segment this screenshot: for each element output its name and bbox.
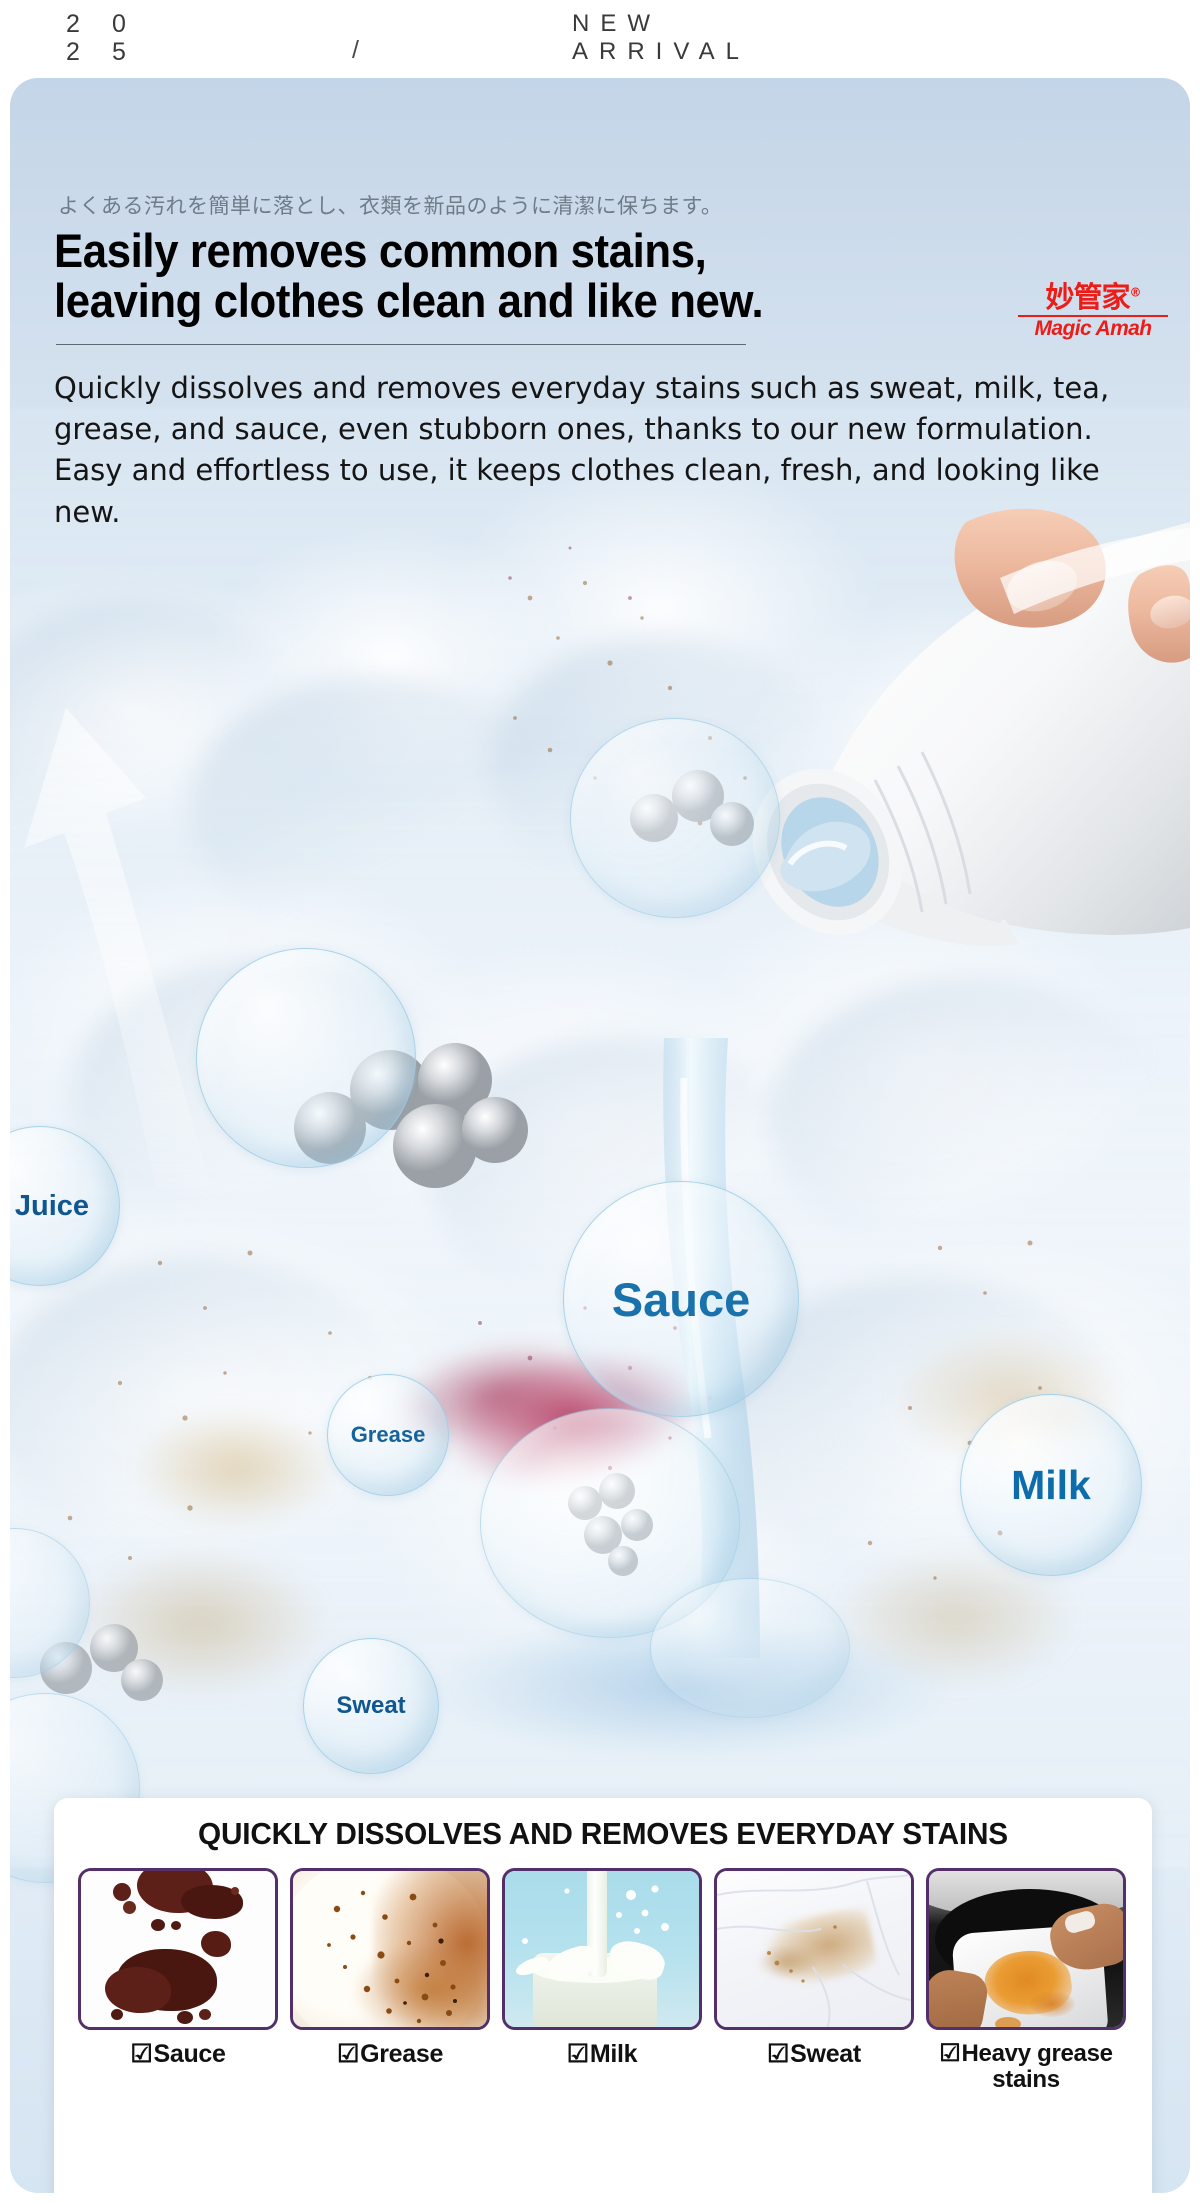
top-header: 2 0 2 5 / NEW ARRIVAL [0,0,1200,78]
header-rule [56,344,746,345]
heavy-grease-shirt-image [929,1871,1123,2027]
stain-item-sweat[interactable]: ☑Sweat [714,1868,914,2093]
body-copy: Quickly dissolves and removes everyday s… [54,368,1144,533]
bubble-decorative [650,1578,850,1718]
headline-line-1: Easily removes common stains, [54,226,947,276]
new-arrival-label: NEW ARRIVAL [572,10,750,66]
checkbox-icon: ☑ [130,2040,152,2068]
stain-caption-text: Milk [590,2040,637,2068]
page-title: Easily removes common stains, leaving cl… [54,226,947,327]
checkbox-icon: ☑ [939,2040,960,2067]
brand-logo-english: Magic Amah [1018,318,1168,340]
soy-sauce-splash-image [81,1871,275,2027]
stain-caption: ☑Heavy grease stains [926,2041,1126,2093]
stain-thumbnail[interactable] [502,1868,702,2030]
bubble-label: Grease [351,1422,426,1448]
stain-item-heavy-grease[interactable]: ☑Heavy grease stains [926,1868,1126,2093]
stain-types-card: QUICKLY DISSOLVES AND REMOVES EVERYDAY S… [54,1798,1152,2193]
bubble-grease: Grease [327,1374,449,1496]
bubble-decorative [570,718,780,918]
bubble-sweat: Sweat [303,1638,439,1774]
stain-item-grease[interactable]: ☑Grease [290,1868,490,2093]
year-digit-4: 5 [112,38,158,66]
stain-caption: ☑Sweat [714,2041,914,2068]
bubble-decorative [196,948,416,1168]
stain-item-milk[interactable]: ☑Milk [502,1868,702,2093]
bubble-label: Sauce [612,1272,750,1327]
greasy-plate-image [293,1871,487,2027]
stain-thumbnail[interactable] [714,1868,914,2030]
year-digit-2: 0 [112,10,158,38]
bubble-sauce: Sauce [563,1181,799,1417]
stain-caption-text: Heavy grease stains [962,2040,1113,2093]
sweat-stain-shirt-image [717,1871,911,2027]
poster-panel: Juice Sauce Grease Milk Sweat よくある汚れを簡単に… [10,78,1190,2193]
header-separator: / [352,36,359,65]
milk-pour-image [505,1871,699,2027]
footer-spacer [0,2193,1200,2205]
stain-caption: ☑Grease [290,2041,490,2068]
checkbox-icon: ☑ [567,2040,589,2068]
stain-item-sauce[interactable]: ☑Sauce [78,1868,278,2093]
brand-logo: 妙管家® Magic Amah [1018,283,1168,340]
stain-thumbnail[interactable] [290,1868,490,2030]
stain-thumbnail[interactable] [78,1868,278,2030]
year-label: 2 0 2 5 [66,10,158,66]
bubble-milk: Milk [960,1394,1142,1576]
checkbox-icon: ☑ [767,2040,789,2068]
brand-logo-chinese: 妙管家® [1018,283,1168,312]
new-arrival-line-1: NEW [572,10,750,38]
year-digit-1: 2 [66,10,112,38]
stain-thumbnail[interactable] [926,1868,1126,2030]
registered-mark: ® [1130,285,1141,299]
stain-caption: ☑Milk [502,2041,702,2068]
headline-line-2: leaving clothes clean and like new. [54,276,947,326]
stain-caption-text: Sauce [153,2040,225,2068]
new-arrival-line-2: ARRIVAL [572,38,750,66]
stain-caption-text: Sweat [790,2040,861,2068]
bubble-label: Juice [15,1190,89,1223]
checkbox-icon: ☑ [337,2040,359,2068]
stain-caption: ☑Sauce [78,2041,278,2068]
stain-caption-text: Grease [360,2040,443,2068]
stain-thumbnail-row: ☑Sauce [78,1868,1128,2093]
year-digit-3: 2 [66,38,112,66]
brand-name-cn: 妙管家 [1045,280,1129,314]
stain-card-title: QUICKLY DISSOLVES AND REMOVES EVERYDAY S… [76,1816,1130,1852]
bubble-label: Milk [1011,1462,1091,1509]
bubble-label: Sweat [336,1692,405,1720]
japanese-subtitle: よくある汚れを簡単に落とし、衣類を新品のように清潔に保ちます。 [58,190,722,220]
